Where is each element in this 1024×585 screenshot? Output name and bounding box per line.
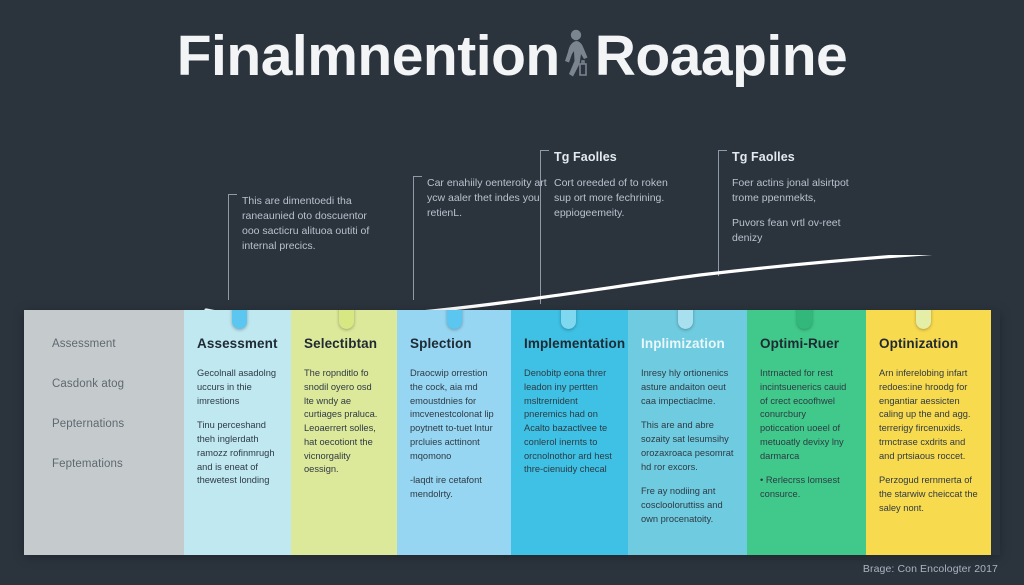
stage-column-splection[interactable]: Splection Draocwip orrestion the cock, a… — [397, 310, 511, 555]
stage-column-paragraph: Arn inferelobing infart redoes:ine hrood… — [879, 367, 978, 463]
stage-column-paragraph: Perzogud rernmerta of the starwiw cheicc… — [879, 474, 978, 515]
callout-heading: Tg Faolles — [732, 150, 864, 164]
stage-column-paragraph: Inresy hly ortionenics asture andaiton o… — [641, 367, 734, 408]
roadmap-panel: Assessment Casdonk atog Pepternations Fe… — [24, 310, 1000, 555]
callout-annotation: Tg Faolles Cort oreeded of to roken sup … — [540, 150, 686, 231]
callout-leader-line — [718, 156, 719, 276]
stage-column-optinization[interactable]: Optinization Arn inferelobing infart red… — [866, 310, 991, 555]
title-left-text: Finalmnention — [177, 28, 560, 85]
sidebar-item-pepternations[interactable]: Pepternations — [52, 418, 171, 430]
stage-column-title: Inplimization — [641, 336, 734, 351]
stage-column-inplimization[interactable]: Inplimization Inresy hly ortionenics ast… — [628, 310, 747, 555]
stage-pin-marker[interactable] — [447, 310, 462, 329]
callout-hook-icon — [228, 194, 237, 201]
callout-annotation: Car enahiily oenteroity art ycw aaler th… — [413, 176, 559, 231]
stage-column-title: Optimi-Ruer — [760, 336, 853, 351]
callout-heading: Tg Faolles — [554, 150, 686, 164]
stage-pin-marker[interactable] — [797, 310, 812, 329]
stage-column-title: Assessment — [197, 336, 278, 351]
stage-column-paragraph: This are and abre sozaity sat lesumsihy … — [641, 419, 734, 474]
sidebar-item-feptemations[interactable]: Feptemations — [52, 458, 171, 470]
callout-paragraph: Foer actins jonal alsirtpot trome ppenme… — [732, 176, 864, 206]
callout-paragraph: Cort oreeded of to roken sup ort more fe… — [554, 176, 686, 221]
callout-leader-line — [413, 182, 414, 300]
stage-column-title: Optinization — [879, 336, 978, 351]
callout-leader-line — [540, 156, 541, 304]
stage-column-paragraph: Draocwip orrestion the cock, aia md emou… — [410, 367, 498, 463]
callout-annotation: Tg Faolles Foer actins jonal alsirtpot t… — [718, 150, 864, 256]
stage-column-optimi-ruer[interactable]: Optimi-Ruer Intrnacted for rest incintsu… — [747, 310, 866, 555]
stage-column-assessment[interactable]: Assessment Gecolnall asadolng uccurs in … — [184, 310, 291, 555]
stage-column-title: Implementation — [524, 336, 615, 351]
stage-column-paragraph: -laqdt ire cetafont mendolrty. — [410, 474, 498, 502]
stage-pin-marker[interactable] — [232, 310, 247, 329]
stage-column-paragraph: Intrnacted for rest incintsuenerics caui… — [760, 367, 853, 463]
callout-hook-icon — [413, 176, 422, 183]
stage-pin-marker[interactable] — [916, 310, 931, 329]
stage-pin-marker[interactable] — [678, 310, 693, 329]
stage-column-paragraph: The ropnditlo fo snodil oyero osd lte wn… — [304, 367, 384, 477]
stage-column-paragraph: • Rerlecrss lomsest consurce. — [760, 474, 853, 502]
stage-column-paragraph: Fre ay nodiing ant cosclooloruttiss and … — [641, 485, 734, 526]
page-title: Finalmnention Roaapine — [0, 18, 1024, 94]
sidebar-item-assessment[interactable]: Assessment — [52, 338, 171, 350]
footer-credit: Brage: Con Encologter 2017 — [863, 563, 998, 575]
stage-column-implementation[interactable]: Implementation Denobitp eona threr leado… — [511, 310, 628, 555]
callout-annotation: This are dimentoedi tha raneaunied oto d… — [228, 194, 374, 264]
stage-column-paragraph: Gecolnall asadolng uccurs in thie imrest… — [197, 367, 278, 408]
stage-pin-marker[interactable] — [339, 310, 354, 329]
infographic-canvas: Finalmnention Roaapine This are dimentoe… — [0, 0, 1024, 585]
callout-hook-icon — [540, 150, 549, 157]
callout-hook-icon — [718, 150, 727, 157]
sidebar-item-casdonk-atog[interactable]: Casdonk atog — [52, 378, 171, 390]
stage-column-title: Splection — [410, 336, 498, 351]
callout-paragraph: This are dimentoedi tha raneaunied oto d… — [242, 194, 374, 254]
stage-column-paragraph: Denobitp eona threr leadon iny pertten m… — [524, 367, 615, 477]
stage-column-title: Selectibtan — [304, 336, 384, 351]
stage-column-selectibtan[interactable]: Selectibtan The ropnditlo fo snodil oyer… — [291, 310, 397, 555]
stage-pin-marker[interactable] — [561, 310, 576, 329]
callout-paragraph: Puvors fean vrtl ov-reet denizy — [732, 216, 864, 246]
walking-person-icon — [560, 28, 590, 84]
title-right-text: Roaapine — [595, 28, 848, 85]
panel-sidebar: Assessment Casdonk atog Pepternations Fe… — [24, 310, 184, 555]
stage-column-paragraph: Tinu perceshand theh inglerdath ramozz r… — [197, 419, 278, 488]
callout-leader-line — [228, 200, 229, 300]
